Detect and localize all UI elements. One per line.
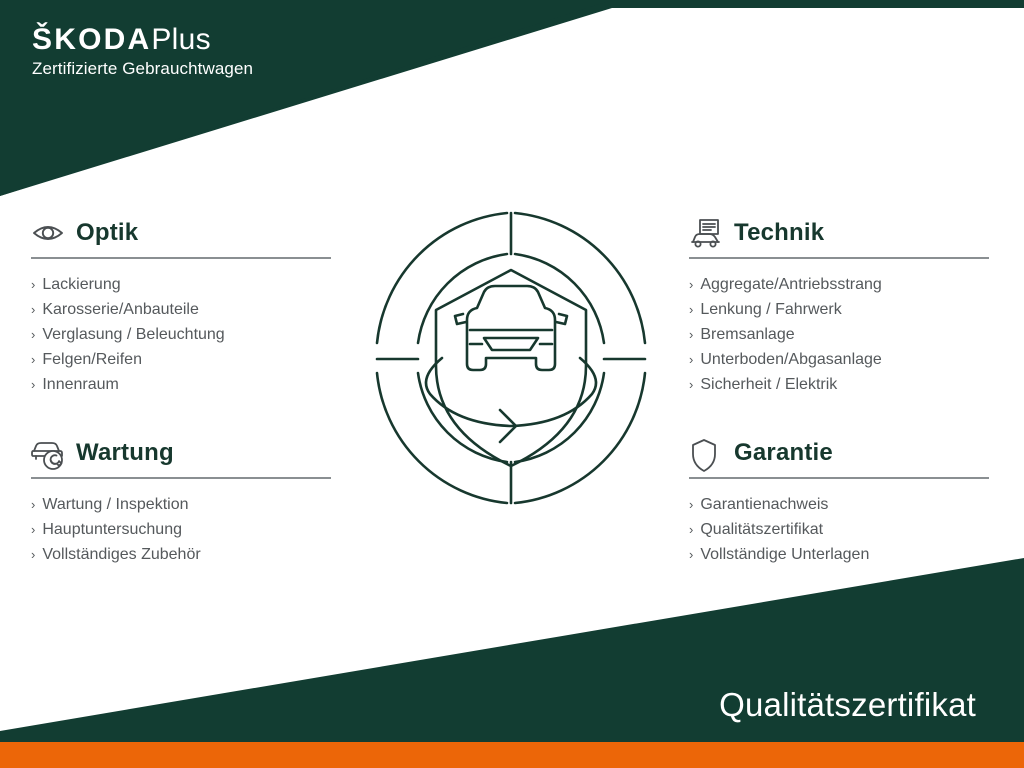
list-item: › Qualitätszertifikat <box>689 517 991 542</box>
brand-logo: ŠKODAPlus Zertifizierte Gebrauchtwagen <box>32 24 253 79</box>
section-garantie-list: › Garantienachweis › Qualitätszertifikat… <box>689 479 991 567</box>
list-item: › Vollständiges Zubehör <box>31 542 333 567</box>
section-garantie-title: Garantie <box>734 439 833 467</box>
list-item: › Innenraum <box>31 372 333 397</box>
chevron-right-icon: › <box>31 322 35 347</box>
list-item: › Wartung / Inspektion <box>31 492 333 517</box>
list-item-label: Lenkung / Fahrwerk <box>700 297 841 322</box>
section-optik-list: › Lackierung › Karosserie/Anbauteile › V… <box>31 259 333 397</box>
list-item-label: Lackierung <box>42 272 120 297</box>
section-wartung-title: Wartung <box>76 439 174 467</box>
section-wartung: Wartung › Wartung / Inspektion › Hauptun… <box>31 436 333 567</box>
chevron-right-icon: › <box>689 492 693 517</box>
list-item-label: Garantienachweis <box>700 492 828 517</box>
chevron-right-icon: › <box>689 347 693 372</box>
list-item: › Hauptuntersuchung <box>31 517 333 542</box>
list-item: › Lenkung / Fahrwerk <box>689 297 991 322</box>
list-item: › Sicherheit / Elektrik <box>689 372 991 397</box>
section-wartung-list: › Wartung / Inspektion › Hauptuntersuchu… <box>31 479 333 567</box>
chevron-right-icon: › <box>689 372 693 397</box>
brand-tagline: Zertifizierte Gebrauchtwagen <box>32 59 253 79</box>
list-item-label: Aggregate/Antriebsstrang <box>700 272 881 297</box>
brand-name: ŠKODA <box>32 23 151 56</box>
car-document-icon <box>689 218 723 248</box>
chevron-right-icon: › <box>689 272 693 297</box>
list-item: › Aggregate/Antriebsstrang <box>689 272 991 297</box>
chevron-right-icon: › <box>31 297 35 322</box>
chevron-right-icon: › <box>689 517 693 542</box>
section-garantie: Garantie › Garantienachweis › Qualitätsz… <box>689 436 991 567</box>
list-item-label: Innenraum <box>42 372 119 397</box>
shield-icon <box>689 438 723 468</box>
chevron-right-icon: › <box>31 542 35 567</box>
car-wrench-icon <box>31 438 65 468</box>
list-item: › Felgen/Reifen <box>31 347 333 372</box>
brand-suffix: Plus <box>151 23 211 56</box>
section-technik-list: › Aggregate/Antriebsstrang › Lenkung / F… <box>689 259 991 397</box>
list-item: › Vollständige Unterlagen <box>689 542 991 567</box>
list-item-label: Karosserie/Anbauteile <box>42 297 199 322</box>
list-item-label: Felgen/Reifen <box>42 347 142 372</box>
list-item-label: Bremsanlage <box>700 322 794 347</box>
list-item-label: Qualitätszertifikat <box>700 517 823 542</box>
list-item: › Garantienachweis <box>689 492 991 517</box>
section-garantie-header: Garantie <box>689 436 991 470</box>
chevron-right-icon: › <box>689 322 693 347</box>
brand-logo-line: ŠKODAPlus <box>32 24 253 56</box>
section-technik-title: Technik <box>734 219 824 247</box>
eye-icon <box>31 218 65 248</box>
section-technik-header: Technik <box>689 216 991 250</box>
list-item-label: Hauptuntersuchung <box>42 517 182 542</box>
chevron-right-icon: › <box>689 542 693 567</box>
section-wartung-header: Wartung <box>31 436 333 470</box>
list-item-label: Verglasung / Beleuchtung <box>42 322 224 347</box>
section-optik-header: Optik <box>31 216 333 250</box>
list-item-label: Vollständiges Zubehör <box>42 542 200 567</box>
list-item: › Lackierung <box>31 272 333 297</box>
list-item: › Unterboden/Abgasanlage <box>689 347 991 372</box>
list-item: › Karosserie/Anbauteile <box>31 297 333 322</box>
chevron-right-icon: › <box>31 372 35 397</box>
section-optik: Optik › Lackierung › Karosserie/Anbautei… <box>31 216 333 397</box>
section-technik: Technik › Aggregate/Antriebsstrang › Len… <box>689 216 991 397</box>
section-optik-title: Optik <box>76 219 138 247</box>
chevron-right-icon: › <box>689 297 693 322</box>
chevron-right-icon: › <box>31 347 35 372</box>
list-item-label: Unterboden/Abgasanlage <box>700 347 881 372</box>
chevron-right-icon: › <box>31 517 35 542</box>
list-item: › Verglasung / Beleuchtung <box>31 322 333 347</box>
checklist-columns: Optik › Lackierung › Karosserie/Anbautei… <box>0 0 1024 768</box>
list-item-label: Sicherheit / Elektrik <box>700 372 837 397</box>
list-item-label: Wartung / Inspektion <box>42 492 188 517</box>
footer-caption: Qualitätszertifikat <box>719 686 976 724</box>
list-item-label: Vollständige Unterlagen <box>700 542 869 567</box>
chevron-right-icon: › <box>31 492 35 517</box>
list-item: › Bremsanlage <box>689 322 991 347</box>
chevron-right-icon: › <box>31 272 35 297</box>
qualitaetszertifikat-poster: ŠKODAPlus Zertifizierte Gebrauchtwagen <box>0 0 1024 768</box>
